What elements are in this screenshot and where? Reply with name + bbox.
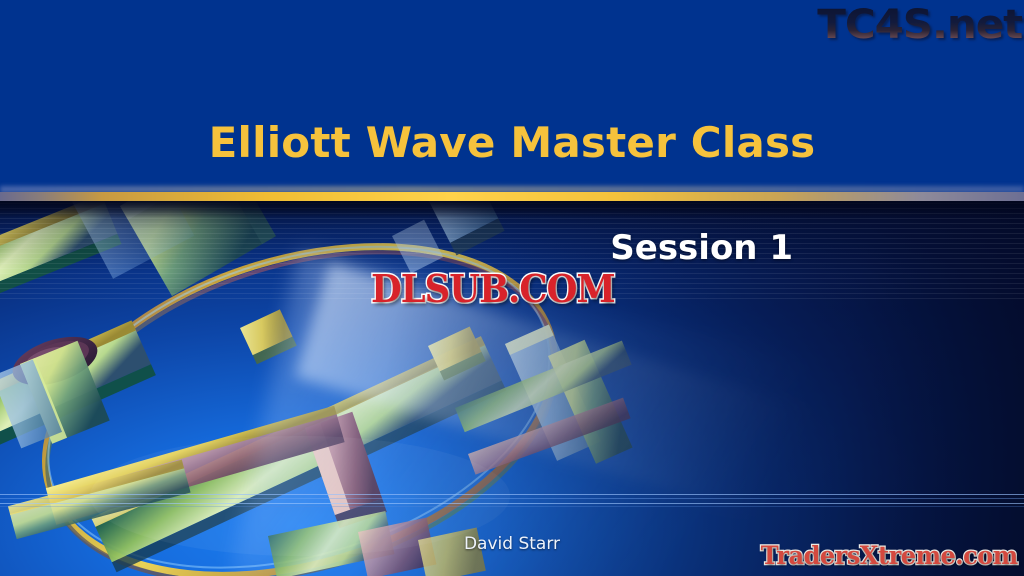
tc4s-watermark: TC4S.net	[817, 2, 1022, 48]
gold-divider	[0, 192, 1024, 201]
session-label: Session 1	[0, 228, 793, 268]
footer-divider-lines	[0, 494, 1024, 508]
footer-line	[0, 498, 1024, 499]
footer-line	[0, 494, 1024, 495]
dlsub-watermark: DLSUB.COM	[371, 266, 615, 311]
presentation-slide: Elliott Wave Master Class Session 1 Davi…	[0, 0, 1024, 576]
tradersxtreme-watermark: TradersXtreme.com	[761, 541, 1018, 570]
dark-divider-shadow	[0, 201, 1024, 217]
page-title: Elliott Wave Master Class	[0, 118, 1024, 167]
footer-line	[0, 503, 1024, 504]
footer-line	[0, 506, 1024, 507]
